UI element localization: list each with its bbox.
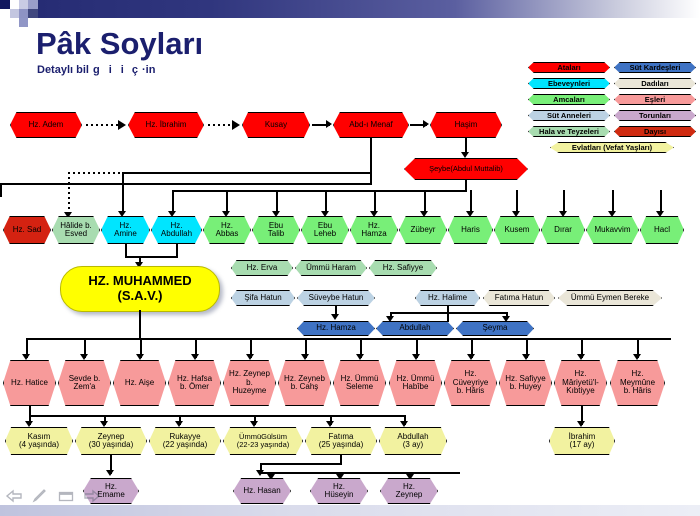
node-seybe-abdul-muttalib[interactable]: Şeybe(Abdul Muttalib): [404, 158, 528, 180]
slide-menu-icon[interactable]: [57, 488, 75, 504]
arrow-icon: [331, 314, 339, 320]
connector-dotted: [68, 172, 122, 174]
subtitle-part: i: [121, 64, 124, 76]
node-fatima-hatun[interactable]: Fatıma Hatun: [483, 290, 555, 306]
node-hz-erva[interactable]: Hz. Erva: [231, 260, 293, 276]
legend-item-dayisi[interactable]: Dayısı: [614, 126, 696, 137]
header-square: [0, 9, 10, 18]
connector-dotted: [208, 124, 234, 126]
arrow-icon: [232, 120, 240, 130]
arrow-icon: [136, 354, 144, 360]
connector: [122, 172, 124, 214]
node-hz-safiyye-b-huyey[interactable]: Hz. Safiyye b. Huyey: [499, 360, 552, 406]
node-hz-safiyye-aunt[interactable]: Hz. Safiyye: [369, 260, 437, 276]
arrow-icon: [80, 354, 88, 360]
arrow-icon: [577, 354, 585, 360]
arrow-icon: [412, 354, 420, 360]
node-hz-zeynep-b-huzeyme[interactable]: Hz. Zeynep b. Huzeyme: [223, 360, 276, 406]
header-gradient-band: [0, 0, 700, 18]
legend: Ataları Süt Kardeşleri Ebeveynleri Dadıl…: [528, 62, 696, 162]
header-square: [28, 0, 38, 9]
arrow-icon: [118, 120, 126, 130]
node-hz-ummu-seleme[interactable]: Hz. Ümmü Seleme: [333, 360, 386, 406]
node-ebu-talib[interactable]: Ebu Talib: [252, 216, 300, 244]
prophet-line-2: (S.A.V.): [117, 289, 162, 304]
legend-item-esleri[interactable]: Eşleri: [614, 94, 696, 105]
node-mukavvim[interactable]: Mukavvim: [586, 216, 639, 244]
node-hz-hatice[interactable]: Hz. Hatice: [3, 360, 56, 406]
arrow-icon: [423, 120, 429, 128]
arrow-icon: [356, 354, 364, 360]
header-square: [10, 0, 19, 9]
connector-bus: [26, 338, 671, 340]
node-hz-muhammed[interactable]: HZ. MUHAMMED (S.A.V.): [60, 266, 220, 312]
slide-bottom-bar: [0, 505, 700, 516]
connector: [447, 306, 449, 322]
arrow-icon: [22, 354, 30, 360]
node-hz-mariyetul-kibtiyye[interactable]: Hz. Mâriyetü'l- Kıbtiyye: [554, 360, 607, 406]
page-subtitle: Detaylı bilgiiç·in: [37, 64, 155, 76]
node-hz-zeyneb-b-cahs[interactable]: Hz. Zeyneb b. Cahş: [278, 360, 331, 406]
legend-item-evlatlari[interactable]: Evlatları (Vefat Yaşları): [550, 142, 674, 153]
pen-tool-icon[interactable]: [31, 488, 49, 504]
node-halide-b-esved[interactable]: Hâlide b. Esved: [52, 216, 100, 244]
node-hz-sad[interactable]: Hz. Sad: [3, 216, 51, 244]
node-kasim[interactable]: Kasım (4 yaşında): [5, 427, 73, 455]
subtitle-part: i: [109, 64, 112, 76]
arrow-icon: [191, 354, 199, 360]
legend-item-atalari[interactable]: Ataları: [528, 62, 610, 73]
node-haris[interactable]: Haris: [448, 216, 493, 244]
arrow-icon: [246, 354, 254, 360]
node-hz-halime[interactable]: Hz. Halime: [415, 290, 480, 306]
connector-bus: [172, 190, 467, 192]
node-hz-aise[interactable]: Hz. Aişe: [113, 360, 166, 406]
node-hz-meymune-b-haris[interactable]: Hz. Meymûne b. Hâris: [610, 360, 665, 406]
next-slide-arrow-icon[interactable]: [83, 488, 101, 504]
legend-item-dadilari[interactable]: Dadıları: [614, 78, 696, 89]
header-square: [10, 9, 19, 18]
node-fatima[interactable]: Fatıma (25 yaşında): [305, 427, 377, 455]
connector-dotted: [86, 124, 120, 126]
prophet-line-1: HZ. MUHAMMED: [88, 274, 191, 289]
connector: [260, 463, 342, 465]
node-ibrahim[interactable]: İbrahim (17 ay): [549, 427, 615, 455]
connector: [390, 312, 508, 314]
arrow-icon: [577, 421, 585, 427]
arrow-icon: [106, 470, 114, 476]
legend-item-sut-anneleri[interactable]: Süt Anneleri: [528, 110, 610, 121]
node-hz-ummu-habibe[interactable]: Hz. Ümmü Habîbe: [389, 360, 442, 406]
node-kusay[interactable]: Kusay: [242, 112, 310, 138]
subtitle-part: Detaylı bil: [37, 64, 89, 76]
legend-item-sut-kardesleri[interactable]: Süt Kardeşleri: [614, 62, 696, 73]
arrow-icon: [326, 120, 332, 128]
header-square: [19, 0, 28, 9]
node-hasim[interactable]: Haşim: [430, 112, 502, 138]
legend-item-ebeveynleri[interactable]: Ebeveynleri: [528, 78, 610, 89]
node-abdullah-milk[interactable]: Abdullah: [376, 321, 454, 336]
arrow-icon: [250, 421, 258, 427]
node-kusem[interactable]: Kusem: [494, 216, 540, 244]
subtitle-part: ç: [132, 64, 138, 76]
node-hz-hafsa-b-omer[interactable]: Hz. Hafsa b. Ömer: [168, 360, 221, 406]
arrow-icon: [326, 421, 334, 427]
arrow-icon: [467, 354, 475, 360]
connector: [370, 138, 372, 185]
slideshow-toolbar[interactable]: [5, 488, 115, 506]
connector: [139, 310, 141, 340]
header-square: [28, 9, 38, 18]
header-square: [19, 18, 28, 27]
subtitle-part: n: [149, 64, 156, 76]
connector-bus: [0, 183, 372, 185]
arrow-icon: [25, 421, 33, 427]
connector-bus: [122, 172, 372, 174]
node-ummu-haram[interactable]: Ümmü Haram: [295, 260, 367, 276]
node-dirar[interactable]: Dırar: [541, 216, 585, 244]
connector: [0, 183, 2, 197]
node-hz-abdullah[interactable]: Hz. Abdullah: [151, 216, 202, 244]
node-hz-cuveyriye-b-haris[interactable]: Hz. Cüveyriye b. Hâris: [444, 360, 497, 406]
node-hz-adem[interactable]: Hz. Adem: [10, 112, 82, 138]
node-abd-i-menaf[interactable]: Abd-ı Menaf: [333, 112, 409, 138]
connector-bus: [29, 415, 404, 417]
node-abdullah-child[interactable]: Abdullah (3 ay): [379, 427, 447, 455]
slide-canvas: Pâk Soyları Detaylı bilgiiç·in Ataları S…: [0, 0, 700, 516]
node-hz-hamza-uncle[interactable]: Hz. Hamza: [350, 216, 398, 244]
arrow-icon: [175, 421, 183, 427]
arrow-icon: [522, 354, 530, 360]
connector-dotted: [68, 172, 70, 216]
arrow-icon: [100, 421, 108, 427]
header-square: [0, 0, 10, 9]
prev-slide-arrow-icon[interactable]: [5, 488, 23, 504]
page-title: Pâk Soyları: [36, 26, 203, 62]
node-hz-amine[interactable]: Hz. Amine: [101, 216, 150, 244]
connector: [125, 256, 178, 258]
node-hz-hamza-milk[interactable]: Hz. Hamza: [297, 321, 375, 336]
arrow-icon: [633, 354, 641, 360]
node-suveybe-hatun[interactable]: Süveybe Hatun: [297, 290, 375, 306]
arrow-icon: [301, 354, 309, 360]
node-hz-huseyin[interactable]: Hz. Hüseyin: [310, 478, 368, 504]
node-seyma-milk[interactable]: Şeyma: [456, 321, 534, 336]
node-ummu-eymen-bereke[interactable]: Ümmü Eymen Bereke: [558, 290, 662, 306]
node-sevde-b-zema[interactable]: Sevde b. Zem'a: [58, 360, 111, 406]
node-sifa-hatun[interactable]: Şifa Hatun: [231, 290, 295, 306]
subtitle-part: g: [93, 64, 100, 76]
node-hacl[interactable]: Hacl: [640, 216, 684, 244]
node-hz-zeynep-grandchild[interactable]: Hz. Zeynep: [380, 478, 438, 504]
connector-bus: [260, 472, 460, 474]
node-hz-hasan[interactable]: Hz. Hasan: [233, 478, 291, 504]
node-ummu-gulsum[interactable]: ÜmmüGülsüm (22-23 yaşında): [223, 427, 303, 455]
node-hz-abbas[interactable]: Hz. Abbas: [203, 216, 251, 244]
legend-item-amcalari[interactable]: Amcaları: [528, 94, 610, 105]
header-square: [10, 18, 19, 27]
node-hz-ibrahim[interactable]: Hz. İbrahim: [128, 112, 204, 138]
arrow-icon: [461, 152, 469, 158]
arrow-icon: [400, 421, 408, 427]
node-zubeyr[interactable]: Zübeyr: [399, 216, 447, 244]
node-rukayye[interactable]: Rukayye (22 yaşında): [149, 427, 221, 455]
node-ebu-leheb[interactable]: Ebu Leheb: [301, 216, 349, 244]
legend-item-hala-teyzeleri[interactable]: Hala ve Teyzeleri: [528, 126, 610, 137]
header-square: [19, 9, 28, 18]
node-zeynep[interactable]: Zeynep (30 yaşında): [75, 427, 147, 455]
legend-item-torunlari[interactable]: Torunları: [614, 110, 696, 121]
